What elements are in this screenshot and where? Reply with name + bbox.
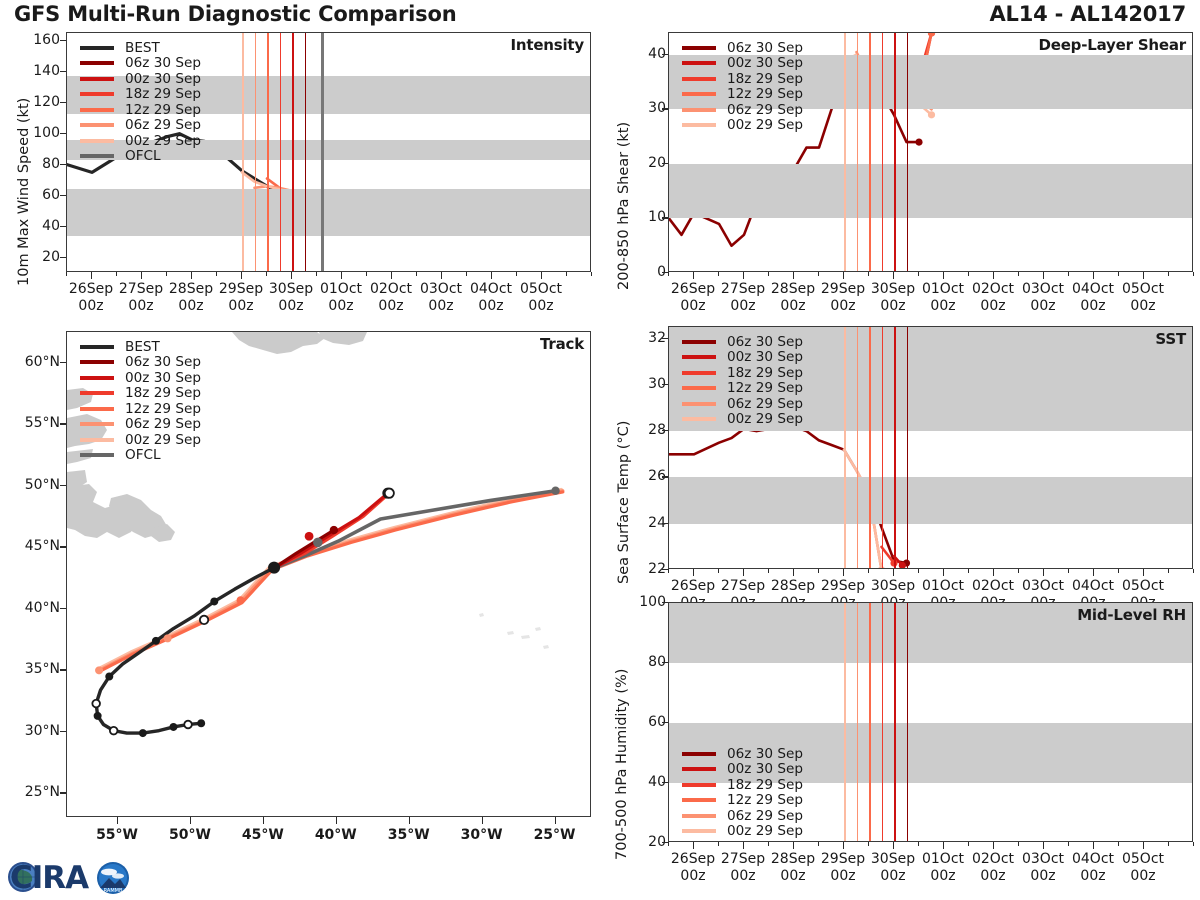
- x-minor-tick: [1118, 842, 1119, 846]
- x-tick-mark: [693, 842, 694, 849]
- legend-label: OFCL: [125, 447, 161, 463]
- legend-item: 06z 30 Sep: [682, 40, 803, 56]
- legend-item: 00z 30 Sep: [80, 370, 201, 386]
- track-waypoint-marker: [95, 666, 103, 674]
- y-tick-label: 32: [606, 330, 666, 346]
- x-tick-mark: [743, 272, 744, 279]
- legend-item: 18z 29 Sep: [682, 365, 803, 381]
- y-tick-label: 24: [606, 515, 666, 531]
- model-init-line: [255, 33, 257, 271]
- x-minor-tick: [316, 272, 317, 276]
- x-tick-label: 04Oct00z: [1072, 851, 1114, 884]
- legend-color-swatch: [80, 92, 114, 96]
- model-init-line: [882, 327, 884, 568]
- cira-logo: CIRA RAMMB: [6, 855, 138, 899]
- x-tick-mark: [693, 569, 694, 576]
- x-minor-tick: [1168, 272, 1169, 276]
- track-ofcl-waypoint: [313, 538, 323, 548]
- x-tick-label: 05Oct00z: [520, 281, 562, 314]
- legend-item: 12z 29 Sep: [80, 102, 201, 118]
- x-tick-label: 02Oct00z: [370, 281, 412, 314]
- track-00z30-waypoint: [305, 532, 314, 541]
- lat-tick-label: 50°N: [0, 477, 60, 493]
- y-tick-label: 80: [606, 654, 666, 670]
- legend-color-swatch: [682, 46, 716, 50]
- x-tick-mark: [341, 272, 342, 279]
- legend-color-swatch: [80, 77, 114, 81]
- lat-tick-label: 25°N: [0, 784, 60, 800]
- x-minor-tick: [768, 272, 769, 276]
- panel-sst: Sea Surface Temp (°C) 222426283032 SST 0…: [600, 322, 1200, 602]
- x-minor-tick: [1193, 272, 1194, 276]
- x-tick-mark: [141, 272, 142, 279]
- legend-label: 00z 29 Sep: [125, 133, 201, 149]
- x-tick-label: 26Sep00z: [671, 281, 715, 314]
- forecast-endpoint-marker: [330, 526, 338, 534]
- x-tick-mark: [943, 272, 944, 279]
- legend-item: 00z 30 Sep: [682, 350, 803, 366]
- x-tick-mark: [491, 272, 492, 279]
- legend-label: 00z 30 Sep: [125, 370, 201, 386]
- lon-tick-label: 45°W: [242, 827, 284, 844]
- x-minor-tick: [918, 842, 919, 846]
- legend-item: 00z 30 Sep: [80, 71, 201, 87]
- x-minor-tick: [66, 272, 67, 276]
- legend-label: 00z 30 Sep: [727, 761, 803, 777]
- best-track-marker-filled: [105, 673, 113, 681]
- y-tick-label: 100: [0, 125, 60, 141]
- x-tick-mark: [843, 569, 844, 576]
- x-minor-tick: [466, 272, 467, 276]
- x-tick-mark: [1043, 842, 1044, 849]
- model-init-line: [267, 33, 269, 271]
- legend-item: BEST: [80, 339, 201, 355]
- x-tick-label: 30Sep00z: [871, 851, 915, 884]
- track-legend: BEST06z 30 Sep00z 30 Sep18z 29 Sep12z 29…: [80, 339, 201, 463]
- y-tick-label: 120: [0, 94, 60, 110]
- x-minor-tick: [818, 272, 819, 276]
- model-init-line: [907, 33, 909, 271]
- x-minor-tick: [918, 272, 919, 276]
- y-tick-label: 160: [0, 32, 60, 48]
- legend-color-swatch: [80, 61, 114, 65]
- legend-item: 06z 29 Sep: [80, 417, 201, 433]
- ofcl-init-line: [321, 33, 323, 271]
- model-init-line: [857, 603, 859, 841]
- legend-item: 18z 29 Sep: [682, 777, 803, 793]
- x-tick-mark: [743, 842, 744, 849]
- intensity-panel-title: Intensity: [510, 36, 584, 54]
- legend-item: 12z 29 Sep: [682, 381, 803, 397]
- best-track-marker-filled: [210, 597, 218, 605]
- legend-label: 00z 30 Sep: [727, 55, 803, 71]
- best-track-marker-filled: [139, 729, 147, 737]
- legend-label: 00z 29 Sep: [125, 432, 201, 448]
- x-tick-label: 03Oct00z: [420, 281, 462, 314]
- x-minor-tick: [818, 842, 819, 846]
- x-tick-label: 03Oct00z: [1022, 281, 1064, 314]
- legend-color-swatch: [80, 46, 114, 50]
- legend-item: 06z 30 Sep: [682, 334, 803, 350]
- lat-tick-label: 40°N: [0, 600, 60, 616]
- forecast-endpoint-marker: [385, 489, 394, 498]
- lon-tick-mark: [336, 817, 337, 824]
- legend-item: 00z 30 Sep: [682, 762, 803, 778]
- x-tick-label: 27Sep00z: [721, 851, 765, 884]
- legend-color-swatch: [682, 108, 716, 112]
- model-init-line: [305, 33, 307, 271]
- x-minor-tick: [216, 272, 217, 276]
- x-tick-mark: [793, 272, 794, 279]
- lat-tick-label: 35°N: [0, 661, 60, 677]
- legend-label: 06z 30 Sep: [727, 746, 803, 762]
- model-init-line: [907, 603, 909, 841]
- legend-color-swatch: [80, 360, 114, 364]
- y-tick-label: 20: [606, 834, 666, 850]
- x-tick-mark: [241, 272, 242, 279]
- shaded-band: [67, 189, 590, 235]
- legend-label: 06z 29 Sep: [727, 396, 803, 412]
- y-tick-label: 28: [606, 422, 666, 438]
- legend-item: 00z 29 Sep: [682, 118, 803, 134]
- legend-item: 00z 29 Sep: [80, 133, 201, 149]
- legend-color-swatch: [682, 61, 716, 65]
- shear-panel-title: Deep-Layer Shear: [1038, 36, 1186, 54]
- x-minor-tick: [718, 569, 719, 573]
- legend-color-swatch: [682, 417, 716, 421]
- legend-item: 06z 29 Sep: [682, 102, 803, 118]
- x-tick-label: 30Sep00z: [871, 281, 915, 314]
- x-tick-label: 29Sep00z: [821, 851, 865, 884]
- x-tick-mark: [1093, 569, 1094, 576]
- lat-tick-label: 55°N: [0, 415, 60, 431]
- lon-tick-label: 40°W: [315, 827, 357, 844]
- model-init-line: [280, 33, 282, 271]
- legend-item: 12z 29 Sep: [682, 87, 803, 103]
- x-minor-tick: [668, 272, 669, 276]
- legend-color-swatch: [682, 340, 716, 344]
- x-minor-tick: [1118, 569, 1119, 573]
- legend-item: BEST: [80, 40, 201, 56]
- x-minor-tick: [968, 272, 969, 276]
- intensity-legend: BEST06z 30 Sep00z 30 Sep18z 29 Sep12z 29…: [80, 40, 201, 164]
- track-panel-title: Track: [540, 335, 584, 353]
- x-tick-mark: [541, 272, 542, 279]
- legend-color-swatch: [682, 402, 716, 406]
- x-tick-mark: [893, 272, 894, 279]
- y-tick-label: 40: [606, 46, 666, 62]
- shear-legend: 06z 30 Sep00z 30 Sep18z 29 Sep12z 29 Sep…: [682, 40, 803, 133]
- panel-shear: 200-850 hPa Shear (kt) 010203040 Deep-La…: [600, 28, 1200, 318]
- x-tick-label: 28Sep00z: [771, 851, 815, 884]
- x-minor-tick: [818, 569, 819, 573]
- panel-track: 25°N30°N35°N40°N45°N50°N55°N60°N: [0, 325, 596, 865]
- x-tick-mark: [943, 842, 944, 849]
- legend-label: 12z 29 Sep: [727, 380, 803, 396]
- legend-label: 12z 29 Sep: [727, 792, 803, 808]
- lon-tick-label: 25°W: [534, 827, 576, 844]
- best-track-marker-open: [92, 700, 100, 708]
- legend-label: 00z 30 Sep: [727, 349, 803, 365]
- y-tick-label: 140: [0, 63, 60, 79]
- legend-color-swatch: [682, 752, 716, 756]
- x-tick-mark: [943, 569, 944, 576]
- series-endpoint-marker: [915, 138, 922, 145]
- x-minor-tick: [868, 569, 869, 573]
- storm-id-label: AL14 - AL142017: [989, 2, 1186, 26]
- legend-color-swatch: [80, 139, 114, 143]
- track-origin-marker: [268, 562, 280, 574]
- x-minor-tick: [1018, 569, 1019, 573]
- legend-item: 06z 30 Sep: [682, 746, 803, 762]
- legend-label: OFCL: [125, 148, 161, 164]
- legend-color-swatch: [80, 345, 114, 349]
- legend-label: 06z 29 Sep: [125, 117, 201, 133]
- legend-color-swatch: [80, 453, 114, 457]
- shaded-band: [669, 164, 1192, 219]
- y-tick-label: 26: [606, 468, 666, 484]
- x-tick-mark: [993, 569, 994, 576]
- x-tick-label: 01Oct00z: [922, 281, 964, 314]
- legend-label: 06z 30 Sep: [125, 55, 201, 71]
- x-minor-tick: [1193, 842, 1194, 846]
- legend-item: OFCL: [80, 448, 201, 464]
- legend-color-swatch: [682, 798, 716, 802]
- legend-item: 12z 29 Sep: [682, 793, 803, 809]
- sst-legend: 06z 30 Sep00z 30 Sep18z 29 Sep12z 29 Sep…: [682, 334, 803, 427]
- y-tick-label: 40: [0, 218, 60, 234]
- x-tick-label: 02Oct00z: [972, 851, 1014, 884]
- y-tick-label: 0: [606, 264, 666, 280]
- lon-tick-label: 30°W: [461, 827, 503, 844]
- legend-label: 18z 29 Sep: [727, 777, 803, 793]
- x-tick-mark: [693, 272, 694, 279]
- rh-y-axis-label: 700-500 hPa Humidity (%): [614, 669, 630, 860]
- legend-label: 06z 29 Sep: [727, 102, 803, 118]
- legend-label: BEST: [125, 339, 160, 355]
- x-minor-tick: [1068, 272, 1069, 276]
- legend-color-swatch: [682, 371, 716, 375]
- best-track-marker-filled: [152, 637, 160, 645]
- x-tick-mark: [843, 272, 844, 279]
- legend-label: 18z 29 Sep: [727, 365, 803, 381]
- x-minor-tick: [968, 842, 969, 846]
- legend-color-swatch: [682, 386, 716, 390]
- best-track-marker-open: [110, 727, 118, 735]
- legend-label: 00z 29 Sep: [727, 823, 803, 839]
- model-init-line: [857, 327, 859, 568]
- x-tick-label: 03Oct00z: [1022, 851, 1064, 884]
- legend-color-swatch: [682, 77, 716, 81]
- model-init-line: [869, 33, 871, 271]
- legend-item: 18z 29 Sep: [80, 386, 201, 402]
- best-track-marker-filled: [169, 723, 177, 731]
- panel-intensity: 10m Max Wind Speed (kt) 2040608010012014…: [0, 28, 596, 318]
- legend-item: 18z 29 Sep: [682, 71, 803, 87]
- x-minor-tick: [566, 272, 567, 276]
- model-init-line: [894, 327, 896, 568]
- rammb-wordmark: RAMMB: [104, 888, 123, 894]
- x-minor-tick: [1168, 842, 1169, 846]
- x-tick-mark: [391, 272, 392, 279]
- rh-panel-title: Mid-Level RH: [1077, 606, 1186, 624]
- x-tick-mark: [743, 569, 744, 576]
- legend-item: 00z 29 Sep: [80, 432, 201, 448]
- x-tick-mark: [291, 272, 292, 279]
- model-init-line: [869, 327, 871, 568]
- x-tick-mark: [993, 272, 994, 279]
- x-tick-mark: [1043, 569, 1044, 576]
- x-minor-tick: [718, 272, 719, 276]
- track-waypoint-marker: [237, 596, 245, 604]
- x-tick-label: 04Oct00z: [470, 281, 512, 314]
- x-minor-tick: [968, 569, 969, 573]
- legend-color-swatch: [682, 123, 716, 127]
- series-endpoint-marker: [928, 111, 935, 118]
- x-tick-label: 29Sep00z: [219, 281, 263, 314]
- model-init-line: [869, 603, 871, 841]
- x-tick-mark: [1043, 272, 1044, 279]
- x-minor-tick: [116, 272, 117, 276]
- x-minor-tick: [718, 842, 719, 846]
- lon-tick-mark: [409, 817, 410, 824]
- legend-label: 00z 29 Sep: [727, 411, 803, 427]
- x-tick-mark: [1143, 272, 1144, 279]
- x-tick-label: 26Sep00z: [671, 851, 715, 884]
- legend-label: 06z 30 Sep: [727, 40, 803, 56]
- legend-color-swatch: [80, 123, 114, 127]
- legend-item: 12z 29 Sep: [80, 401, 201, 417]
- x-minor-tick: [868, 842, 869, 846]
- x-minor-tick: [591, 272, 592, 276]
- x-tick-mark: [1143, 842, 1144, 849]
- x-tick-mark: [843, 842, 844, 849]
- y-tick-label: 30: [606, 100, 666, 116]
- x-tick-mark: [91, 272, 92, 279]
- track-line-12z-29-sep: [99, 492, 563, 672]
- lat-tick-label: 30°N: [0, 723, 60, 739]
- legend-color-swatch: [80, 376, 114, 380]
- x-minor-tick: [166, 272, 167, 276]
- legend-item: 06z 30 Sep: [80, 56, 201, 72]
- y-tick-label: 60: [0, 187, 60, 203]
- x-tick-mark: [893, 842, 894, 849]
- legend-color-swatch: [682, 814, 716, 818]
- y-tick-label: 22: [606, 561, 666, 577]
- x-tick-label: 30Sep00z: [269, 281, 313, 314]
- best-track-marker-filled: [197, 719, 205, 727]
- legend-item: 18z 29 Sep: [80, 87, 201, 103]
- lon-tick-label: 50°W: [169, 827, 211, 844]
- legend-item: 06z 30 Sep: [80, 355, 201, 371]
- x-minor-tick: [1018, 272, 1019, 276]
- x-minor-tick: [768, 569, 769, 573]
- x-tick-mark: [191, 272, 192, 279]
- x-minor-tick: [768, 842, 769, 846]
- sst-y-axis-label: Sea Surface Temp (°C): [616, 421, 632, 584]
- legend-color-swatch: [80, 108, 114, 112]
- lon-tick-mark: [555, 817, 556, 824]
- legend-color-swatch: [80, 438, 114, 442]
- x-minor-tick: [266, 272, 267, 276]
- legend-color-swatch: [682, 355, 716, 359]
- x-tick-label: 28Sep00z: [169, 281, 213, 314]
- lon-tick-label: 55°W: [96, 827, 138, 844]
- x-tick-label: 01Oct00z: [922, 851, 964, 884]
- legend-item: 06z 29 Sep: [682, 808, 803, 824]
- legend-item: 00z 29 Sep: [682, 412, 803, 428]
- legend-item: OFCL: [80, 149, 201, 165]
- x-minor-tick: [868, 272, 869, 276]
- legend-color-swatch: [80, 391, 114, 395]
- x-tick-label: 27Sep00z: [721, 281, 765, 314]
- legend-item: 00z 29 Sep: [682, 824, 803, 840]
- y-tick-label: 10: [606, 209, 666, 225]
- model-init-line: [882, 33, 884, 271]
- panel-rh: 700-500 hPa Humidity (%) 20406080100 Mid…: [600, 598, 1200, 898]
- model-init-line: [857, 33, 859, 271]
- legend-label: 18z 29 Sep: [727, 71, 803, 87]
- x-tick-label: 04Oct00z: [1072, 281, 1114, 314]
- x-tick-mark: [441, 272, 442, 279]
- rh-legend: 06z 30 Sep00z 30 Sep18z 29 Sep12z 29 Sep…: [682, 746, 803, 839]
- lon-tick-label: 35°W: [388, 827, 430, 844]
- legend-color-swatch: [80, 407, 114, 411]
- legend-color-swatch: [682, 767, 716, 771]
- best-track-marker-open: [184, 721, 192, 729]
- x-tick-mark: [1143, 569, 1144, 576]
- x-tick-label: 02Oct00z: [972, 281, 1014, 314]
- legend-label: 06z 29 Sep: [125, 416, 201, 432]
- model-init-line: [292, 33, 294, 271]
- y-tick-label: 40: [606, 774, 666, 790]
- track-waypoint-marker: [164, 634, 172, 642]
- x-tick-label: 27Sep00z: [119, 281, 163, 314]
- x-tick-mark: [893, 569, 894, 576]
- y-tick-label: 30: [606, 376, 666, 392]
- legend-label: 18z 29 Sep: [125, 86, 201, 102]
- x-minor-tick: [1168, 569, 1169, 573]
- legend-label: 00z 30 Sep: [125, 71, 201, 87]
- x-minor-tick: [1193, 569, 1194, 573]
- y-tick-label: 60: [606, 714, 666, 730]
- x-minor-tick: [1018, 842, 1019, 846]
- legend-item: 06z 29 Sep: [80, 118, 201, 134]
- x-minor-tick: [516, 272, 517, 276]
- x-tick-mark: [1093, 272, 1094, 279]
- x-minor-tick: [366, 272, 367, 276]
- shaded-band: [669, 477, 1192, 523]
- x-tick-label: 29Sep00z: [821, 281, 865, 314]
- model-init-line: [242, 33, 244, 271]
- legend-color-swatch: [80, 154, 114, 158]
- legend-item: 06z 29 Sep: [682, 396, 803, 412]
- model-init-line: [894, 33, 896, 271]
- legend-color-swatch: [682, 829, 716, 833]
- legend-label: 06z 30 Sep: [727, 334, 803, 350]
- x-tick-label: 01Oct00z: [320, 281, 362, 314]
- best-track-marker-filled: [94, 712, 102, 720]
- lon-tick-mark: [117, 817, 118, 824]
- x-minor-tick: [1068, 569, 1069, 573]
- series-endpoint-marker: [928, 33, 935, 37]
- track-line-06z-29-sep: [99, 491, 563, 671]
- x-tick-label: 26Sep00z: [69, 281, 113, 314]
- legend-label: 00z 29 Sep: [727, 117, 803, 133]
- x-minor-tick: [416, 272, 417, 276]
- x-minor-tick: [1118, 272, 1119, 276]
- legend-label: 12z 29 Sep: [125, 401, 201, 417]
